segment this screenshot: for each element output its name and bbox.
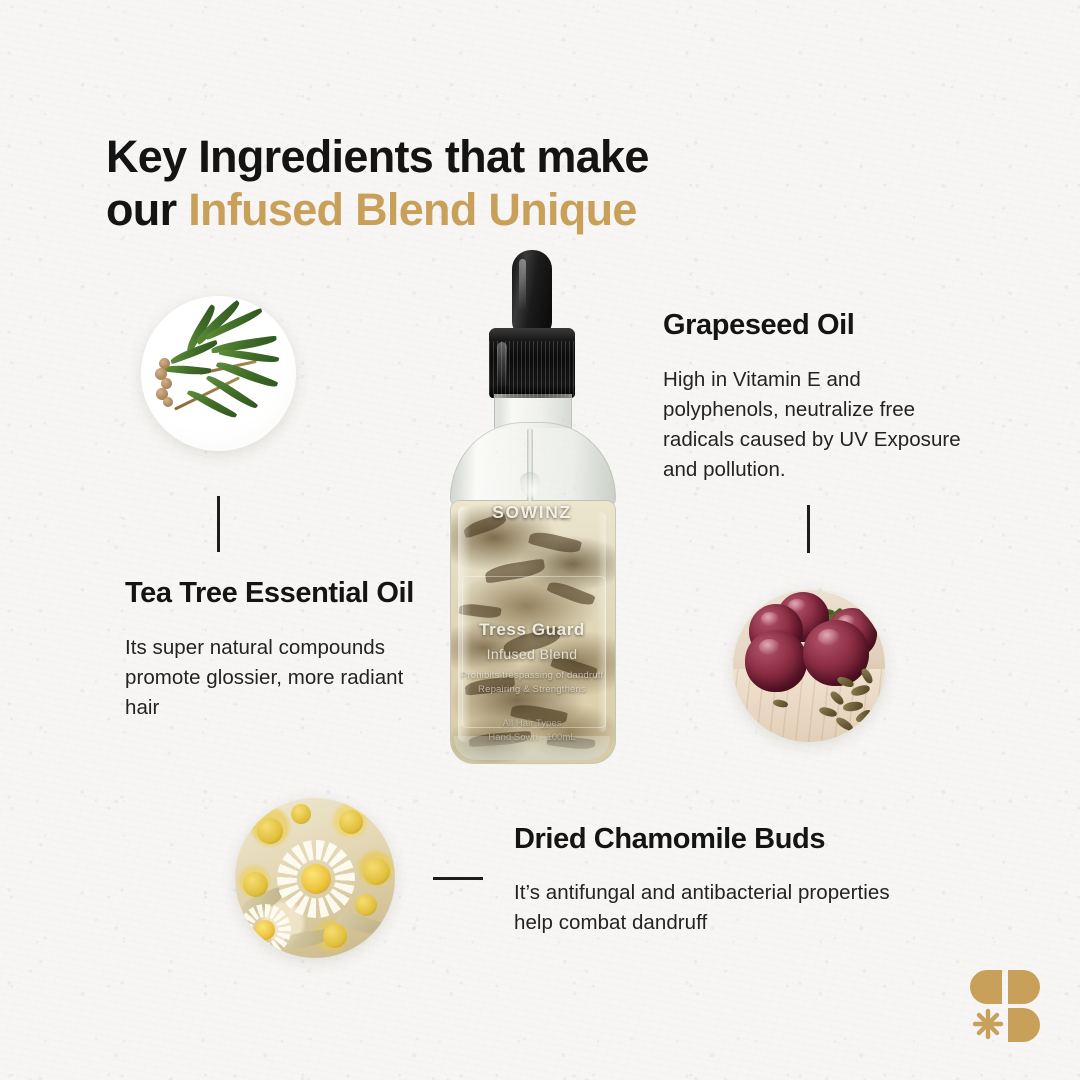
bottle-brand-name: SOWINZ <box>450 502 614 523</box>
ingredient-body-tea-tree: Its super natural compounds promote glos… <box>125 633 425 722</box>
bottle-product-name: Tress Guard <box>450 620 614 640</box>
chamomile-flower-center <box>255 920 275 940</box>
tea-tree-seed-pod <box>163 397 173 407</box>
ingredient-block-tea-tree: Tea Tree Essential Oil Its super natural… <box>125 576 425 723</box>
page-title-line-1: Key Ingredients that make <box>106 131 649 182</box>
chamomile-bud <box>257 818 283 844</box>
chamomile-flower-center <box>301 864 331 894</box>
chamomile-bud <box>339 810 363 834</box>
ingredient-body-chamomile: It’s antifungal and antibacterial proper… <box>514 878 894 937</box>
ingredient-block-chamomile: Dried Chamomile Buds It’s antifungal and… <box>514 822 894 938</box>
connector-line-chamomile <box>433 877 483 880</box>
ingredient-title-chamomile: Dried Chamomile Buds <box>514 822 894 857</box>
dropper-collar-cap <box>489 328 575 398</box>
ingredient-title-grapeseed: Grapeseed Oil <box>663 308 963 343</box>
asterisk-icon <box>975 1011 1001 1037</box>
grape <box>745 630 807 692</box>
page-title-line-2-accent: Infused Blend Unique <box>188 184 637 235</box>
chamomile-bud <box>355 894 377 916</box>
bottle-benefit-line-1: Prohibits trespassing of dandruff <box>450 670 614 681</box>
ingredient-photo-tea-tree <box>141 296 296 451</box>
dropper-bulb <box>512 250 552 336</box>
bottle-origin-volume: Hand Sown · 100mL <box>450 732 614 743</box>
chamomile-bud <box>243 872 268 897</box>
bottle-hair-type: All Hair Types <box>450 718 614 729</box>
product-bottle: SOWINZ Tress Guard Infused Blend Prohibi… <box>432 250 632 762</box>
ingredient-photo-grapeseed <box>733 590 885 742</box>
bottle-subtitle: Infused Blend <box>450 646 614 662</box>
grape <box>803 620 869 686</box>
bottle-benefit-line-2: Repairing & Strengthens <box>450 684 614 695</box>
page-title-line-2-plain: our <box>106 184 188 235</box>
chamomile-bud <box>323 924 347 948</box>
ingredient-block-grapeseed: Grapeseed Oil High in Vitamin E and poly… <box>663 308 963 484</box>
connector-line-grapeseed <box>807 505 810 553</box>
connector-line-tea-tree <box>217 496 220 552</box>
brand-logo-icon <box>966 966 1044 1044</box>
ingredient-title-tea-tree: Tea Tree Essential Oil <box>125 576 425 611</box>
ingredients-infographic-poster: Key Ingredients that make our Infused Bl… <box>0 0 1080 1080</box>
chamomile-bud <box>291 804 311 824</box>
ingredient-body-grapeseed: High in Vitamin E and polyphenols, neutr… <box>663 365 963 484</box>
page-title: Key Ingredients that make our Infused Bl… <box>106 130 746 236</box>
chamomile-bud <box>363 858 390 885</box>
ingredient-photo-chamomile <box>235 798 395 958</box>
